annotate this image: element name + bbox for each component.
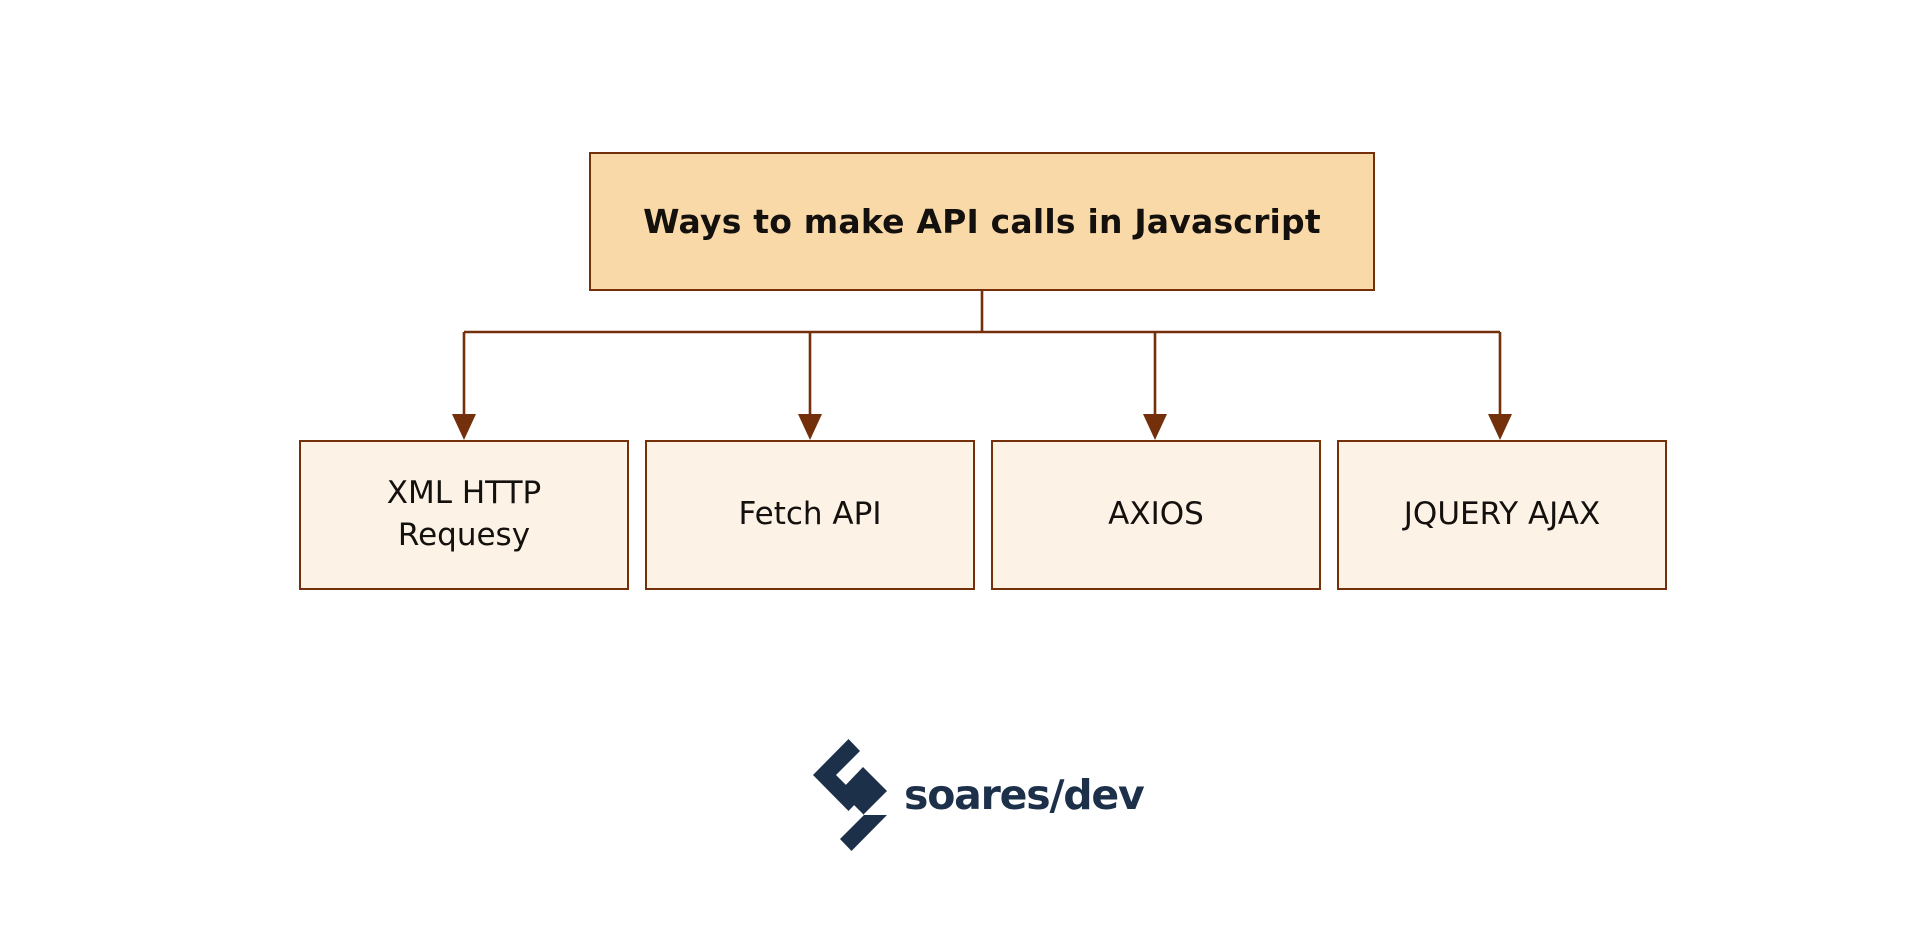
leaf-node-label-line1: XML HTTP <box>387 475 541 511</box>
leaf-node-label: AXIOS <box>1108 494 1204 536</box>
root-node[interactable]: Ways to make API calls in Javascript <box>589 152 1375 291</box>
leaf-node-label: XML HTTP Requesy <box>387 473 541 557</box>
leaf-node-label: JQUERY AJAX <box>1404 494 1600 536</box>
arrowhead-3 <box>1488 414 1512 440</box>
logo-wordmark: soares/dev <box>904 771 1144 819</box>
leaf-node-jquery-ajax[interactable]: JQUERY AJAX <box>1337 440 1667 590</box>
leaf-node-label: Fetch API <box>739 494 882 536</box>
arrowhead-1 <box>798 414 822 440</box>
diagram-canvas: Ways to make API calls in Javascript XML… <box>0 0 1920 925</box>
leaf-node-fetch-api[interactable]: Fetch API <box>645 440 975 590</box>
leaf-node-label-line2: Requesy <box>398 517 530 553</box>
arrowhead-2 <box>1143 414 1167 440</box>
leaf-node-axios[interactable]: AXIOS <box>991 440 1321 590</box>
brand-logo: soares/dev <box>810 735 1130 855</box>
arrowhead-0 <box>452 414 476 440</box>
soares-dev-s-mark-icon <box>810 737 890 853</box>
root-node-label: Ways to make API calls in Javascript <box>643 202 1321 241</box>
leaf-node-xml-http-request[interactable]: XML HTTP Requesy <box>299 440 629 590</box>
